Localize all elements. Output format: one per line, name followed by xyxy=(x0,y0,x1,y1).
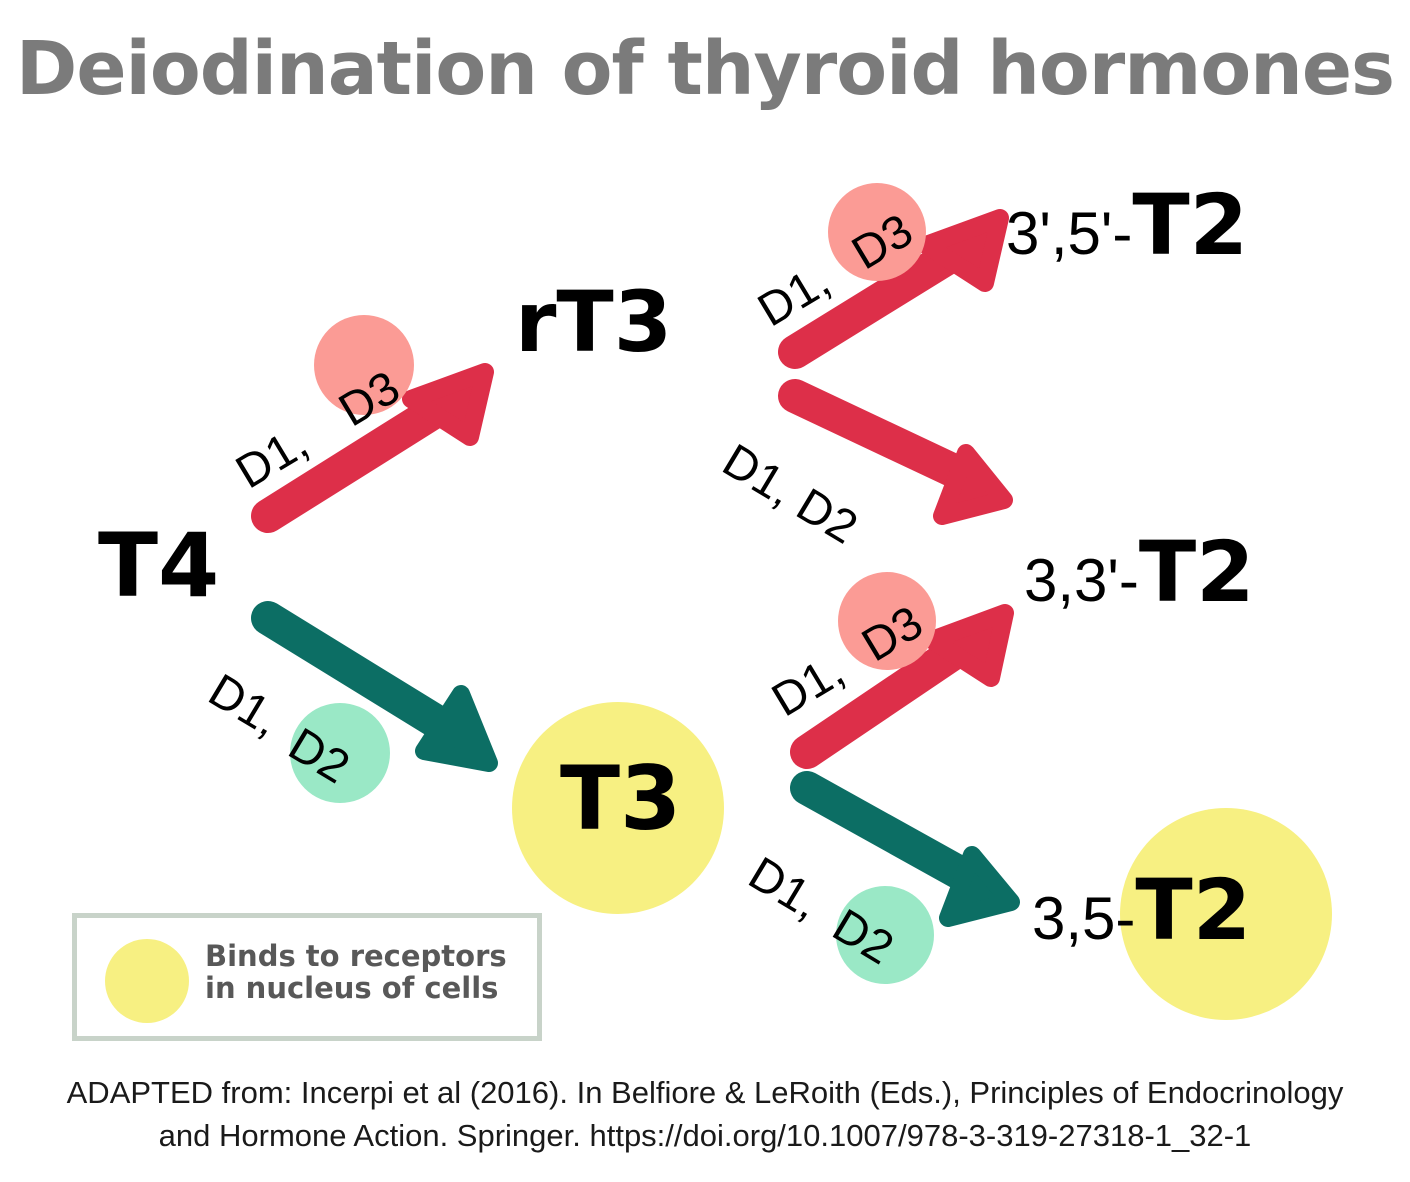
node-label-35-t2-prefix: 3,5- xyxy=(1032,885,1135,952)
node-label-35-t2: 3,5-T2 xyxy=(1032,868,1251,952)
node-label-33p-t2-prefix: 3,3'- xyxy=(1024,547,1139,614)
source-caption: ADAPTED from: Incerpi et al (2016). In B… xyxy=(0,1072,1410,1158)
legend-label: Binds to receptors in nucleus of cells xyxy=(205,940,507,1005)
legend-swatch-yellow-circle xyxy=(105,939,189,1023)
node-label-3p5p-t2-core: T2 xyxy=(1132,176,1248,274)
source-caption-line2: and Hormone Action. Springer. https://do… xyxy=(0,1115,1410,1158)
node-label-t4: T4 xyxy=(98,522,219,610)
node-label-rt3: rT3 xyxy=(515,280,672,364)
node-label-35-t2-core: T2 xyxy=(1135,861,1251,959)
node-label-3p5p-t2: 3',5'-T2 xyxy=(1006,183,1248,267)
diagram-canvas: Deiodination of thyroid hormones xyxy=(0,0,1410,1182)
source-caption-line1: ADAPTED from: Incerpi et al (2016). In B… xyxy=(0,1072,1410,1115)
legend-box: Binds to receptors in nucleus of cells xyxy=(72,913,542,1041)
node-label-33p-t2: 3,3'-T2 xyxy=(1024,530,1255,614)
node-label-33p-t2-core: T2 xyxy=(1139,523,1255,621)
node-label-3p5p-t2-prefix: 3',5'- xyxy=(1006,200,1132,267)
node-label-t3: T3 xyxy=(560,755,681,843)
